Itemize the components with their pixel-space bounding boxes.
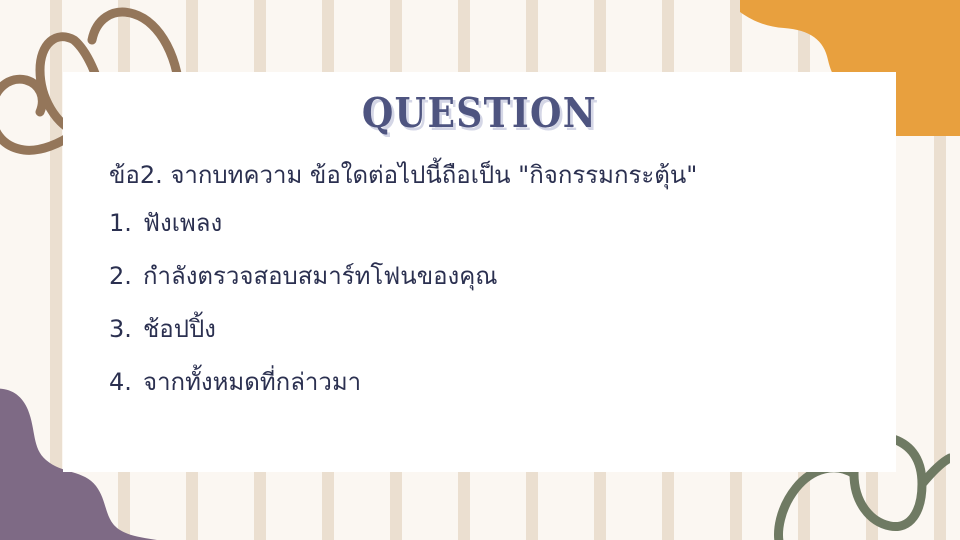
list-item[interactable]: 4. จากทั้งหมดที่กล่าวมา [109, 367, 850, 398]
choice-label: กำลังตรวจสอบสมาร์ทโฟนของคุณ [143, 261, 498, 292]
list-item[interactable]: 2. กำลังตรวจสอบสมาร์ทโฟนของคุณ [109, 261, 850, 292]
choice-label: จากทั้งหมดที่กล่าวมา [143, 367, 361, 398]
choice-number: 3. [109, 314, 135, 345]
choice-label: ช้อปปิ้ง [143, 314, 216, 345]
choice-number: 2. [109, 261, 135, 292]
slide-canvas: QUESTION ข้อ2. จากบทความ ข้อใดต่อไปนี้ถื… [0, 0, 960, 540]
list-item[interactable]: 3. ช้อปปิ้ง [109, 314, 850, 345]
list-item[interactable]: 1. ฟังเพลง [109, 208, 850, 239]
answer-choice-list: 1. ฟังเพลง 2. กำลังตรวจสอบสมาร์ทโฟนของคุ… [109, 208, 850, 399]
page-title: QUESTION [153, 90, 805, 137]
choice-number: 1. [109, 208, 135, 239]
content-card-inner: QUESTION ข้อ2. จากบทความ ข้อใดต่อไปนี้ถื… [63, 72, 896, 472]
content-card: QUESTION ข้อ2. จากบทความ ข้อใดต่อไปนี้ถื… [63, 72, 896, 472]
choice-number: 4. [109, 367, 135, 398]
question-text: ข้อ2. จากบทความ ข้อใดต่อไปนี้ถือเป็น "กิ… [109, 159, 850, 191]
choice-label: ฟังเพลง [143, 208, 222, 239]
